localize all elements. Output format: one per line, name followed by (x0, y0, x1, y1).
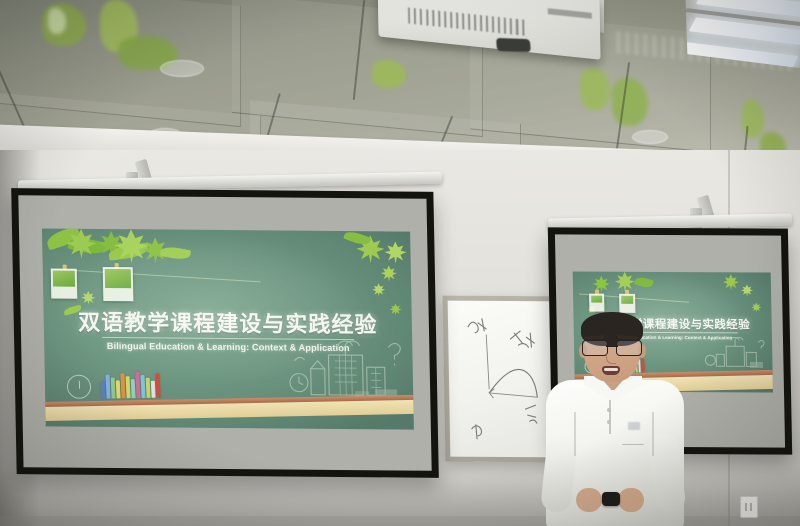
presenter-hand (576, 488, 602, 512)
glasses-icon (580, 340, 644, 355)
book-icon (155, 374, 160, 398)
presenter-hand (618, 488, 644, 512)
shelf (42, 394, 414, 421)
city-doodle-icon (288, 339, 409, 402)
leaf-icon (81, 291, 95, 305)
leaf-icon (372, 283, 385, 296)
leaf-icon (381, 265, 397, 281)
glasses-bridge (606, 345, 618, 347)
leaf-icon (384, 241, 406, 263)
polaroid-photo-icon (589, 294, 604, 312)
leaf-icon (741, 284, 753, 296)
shirt-logo (628, 422, 640, 430)
book-row (100, 371, 160, 399)
ceiling-reflection-leaf (612, 78, 648, 126)
polaroid-photo-icon (619, 294, 635, 313)
projection-screen-primary: 双语教学课程建设与实践经验 Bilingual Education & Lear… (11, 188, 439, 478)
ceiling-reflection-photo (48, 8, 66, 34)
leaf-icon (634, 276, 654, 290)
polo-button (607, 408, 611, 412)
clock-icon (67, 375, 91, 399)
presenter-remote-icon (602, 492, 620, 506)
projector-vent (408, 7, 528, 36)
slide-title-primary: 双语教学课程建设与实践经验 (43, 304, 412, 339)
projector-lens (496, 38, 531, 52)
polo-placket (609, 400, 611, 434)
sleeve-seam (574, 412, 576, 456)
ceiling-fixture-icon (160, 60, 204, 77)
book-icon (151, 381, 156, 398)
leaf-icon (160, 245, 191, 261)
presenter-nose (606, 354, 616, 364)
projected-slide-primary: 双语教学课程建设与实践经验 Bilingual Education & Lear… (42, 228, 414, 429)
decor-string (51, 269, 261, 283)
leaf-icon (751, 302, 761, 312)
glasses-lens (616, 340, 642, 356)
polaroid-photo-icon (103, 267, 134, 301)
leaf-icon (723, 274, 739, 290)
ceiling-reflection-leaf (372, 60, 406, 88)
glasses-lens (582, 340, 608, 356)
presenter (540, 316, 690, 526)
wall-outlet-icon (740, 496, 758, 518)
polaroid-photo-icon (51, 269, 78, 299)
classroom-photo: 双语教学课程建设与实践经验 Bilingual Education & Lear… (0, 0, 800, 526)
presenter-mouth (602, 366, 620, 375)
book-icon (116, 380, 121, 398)
polo-button (607, 420, 611, 424)
book-icon (101, 382, 106, 399)
city-doodle-icon (704, 336, 769, 370)
sleeve-seam (652, 412, 654, 456)
ceiling-fixture-icon (632, 130, 668, 144)
shirt-pocket (622, 444, 644, 455)
ceiling-reflection-leaf (580, 68, 610, 110)
projector-label-plate (548, 8, 592, 19)
